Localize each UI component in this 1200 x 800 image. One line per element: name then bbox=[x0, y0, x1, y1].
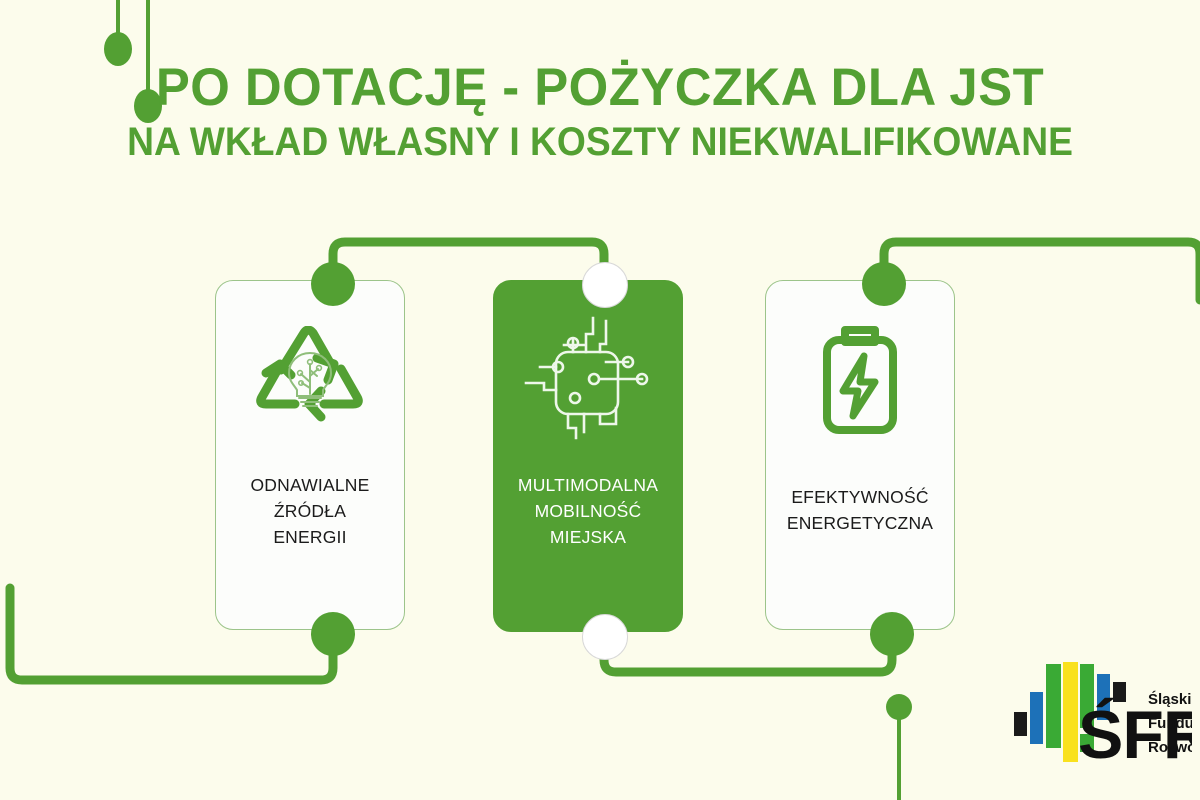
logo-bar-1 bbox=[1014, 712, 1027, 736]
logo-bar-3 bbox=[1046, 664, 1061, 748]
top-connector-1-2 bbox=[333, 242, 604, 284]
page-subtitle: NA WKŁAD WŁASNY I KOSZTY NIEKWALIFIKOWAN… bbox=[42, 120, 1158, 164]
logo-bar-4 bbox=[1063, 662, 1078, 762]
logo-line-2: Fundusz bbox=[1148, 715, 1192, 732]
logo-acronym: ŚFR bbox=[1078, 697, 1192, 772]
node-stem-3 bbox=[886, 694, 912, 720]
circuit-chip-icon bbox=[518, 313, 658, 443]
node-card2-bottom bbox=[582, 614, 628, 660]
infographic-canvas: PO DOTACJĘ - POŻYCZKA DLA JST NA WKŁAD W… bbox=[0, 0, 1200, 800]
card-energy-efficiency[interactable]: EFEKTYWNOŚĆ ENERGETYCZNA bbox=[765, 280, 955, 630]
battery-bolt-icon bbox=[817, 311, 903, 441]
page-title: PO DOTACJĘ - POŻYCZKA DLA JST bbox=[24, 60, 1176, 116]
logo-bar-2 bbox=[1030, 692, 1043, 744]
node-card2-top bbox=[582, 262, 628, 308]
logo-line-3: Rozwoju bbox=[1148, 739, 1192, 756]
heading-block: PO DOTACJĘ - POŻYCZKA DLA JST NA WKŁAD W… bbox=[0, 60, 1200, 164]
card-renewable-energy[interactable]: ODNAWIALNE ŹRÓDŁA ENERGII bbox=[215, 280, 405, 630]
sfr-logo: ŚFR Śląski Fundusz Rozwoju bbox=[1012, 662, 1192, 772]
card-label: EFEKTYWNOŚĆ ENERGETYCZNA bbox=[787, 485, 933, 537]
bottom-connector-2-3 bbox=[604, 634, 892, 672]
node-card1-bottom bbox=[311, 612, 355, 656]
node-card3-bottom bbox=[870, 612, 914, 656]
logo-line-1: Śląski bbox=[1148, 690, 1191, 708]
card-label: MULTIMODALNA MOBILNOŚĆ MIEJSKA bbox=[518, 473, 658, 551]
node-card3-top bbox=[862, 262, 906, 306]
recycling-lightbulb-icon bbox=[251, 317, 369, 447]
node-card1-top bbox=[311, 262, 355, 306]
card-label: ODNAWIALNE ŹRÓDŁA ENERGII bbox=[250, 473, 369, 551]
card-urban-mobility[interactable]: MULTIMODALNA MOBILNOŚĆ MIEJSKA bbox=[493, 280, 683, 632]
